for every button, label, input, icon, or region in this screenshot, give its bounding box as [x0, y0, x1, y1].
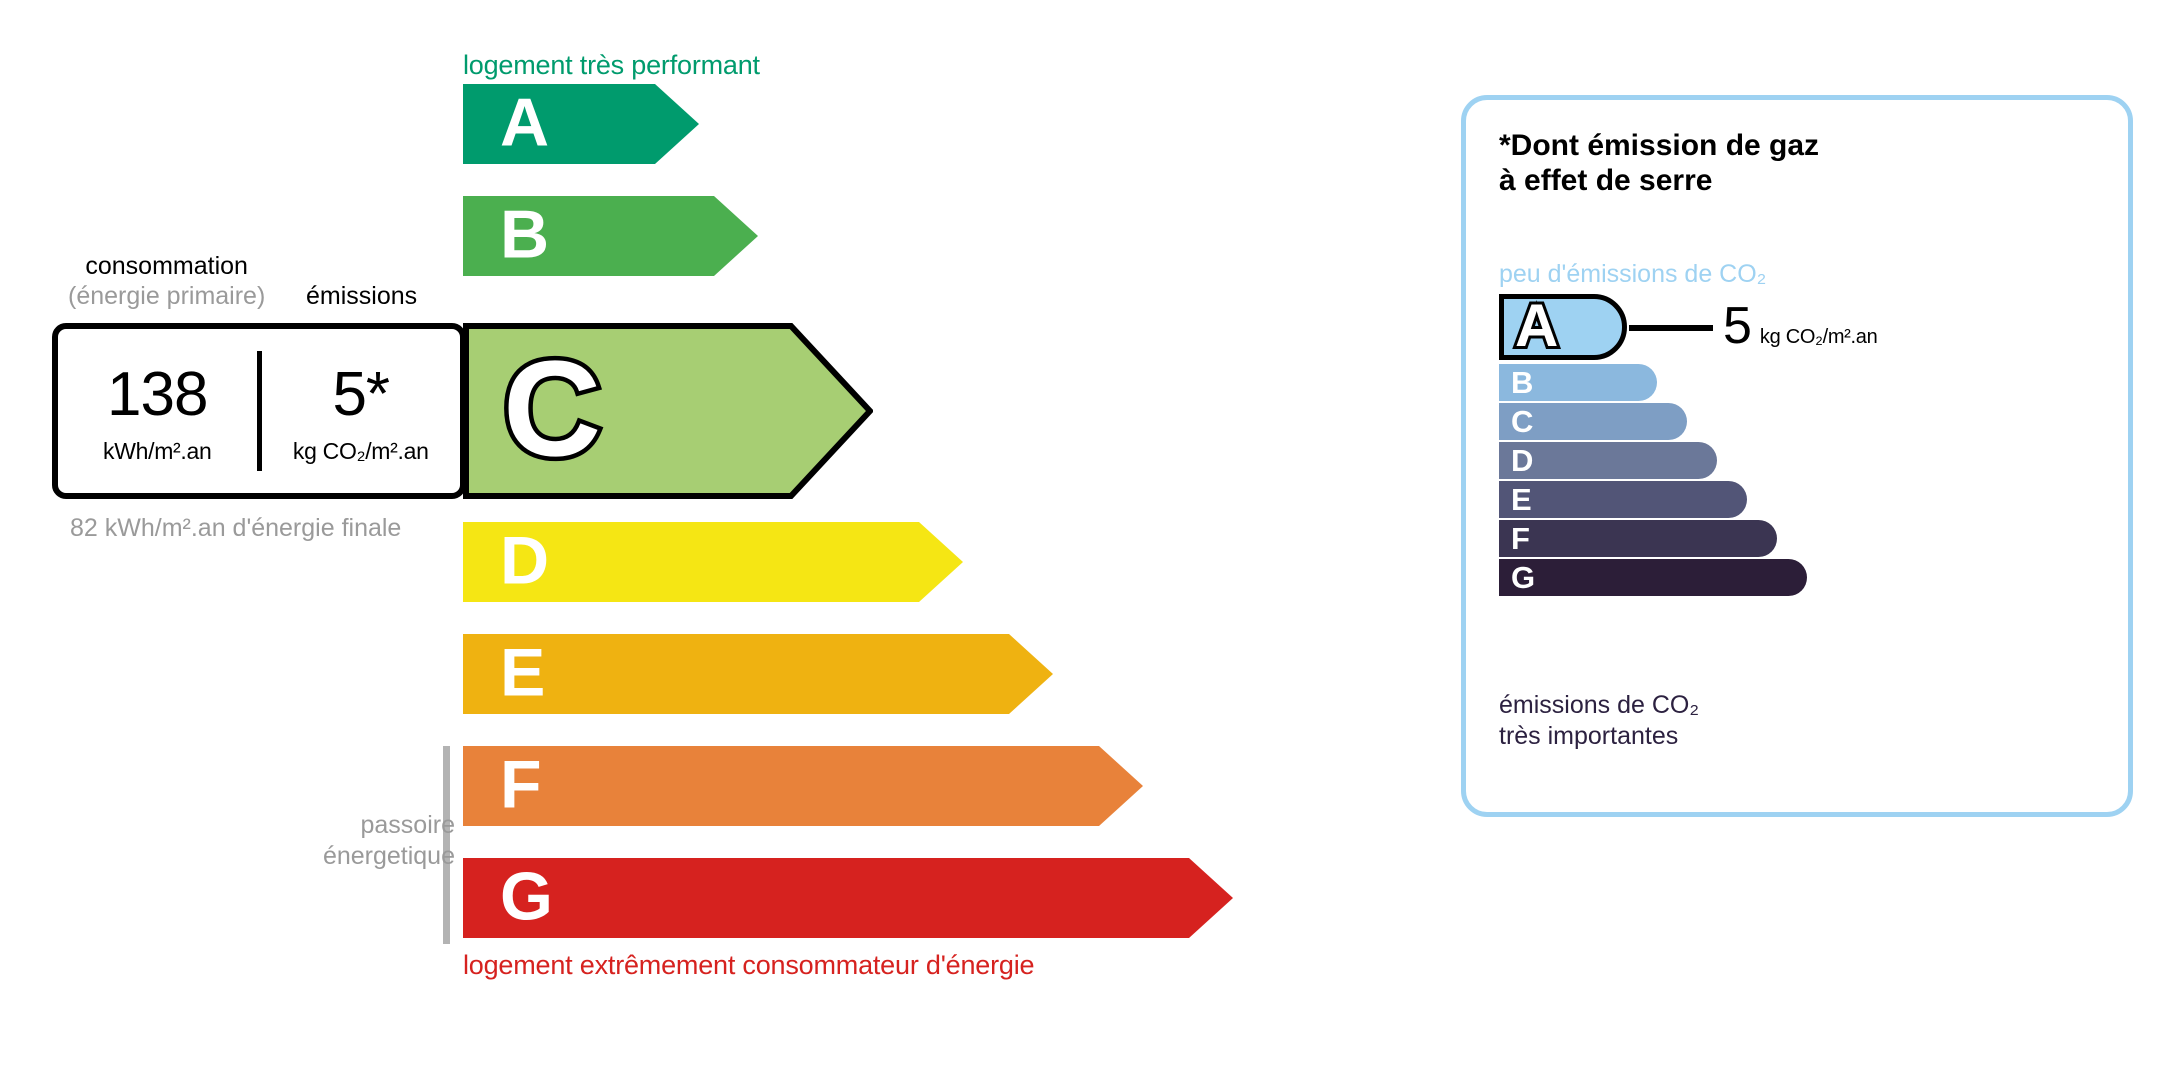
energy-grade-row-e: E	[463, 634, 1053, 714]
consumption-unit: kWh/m².an	[103, 438, 211, 465]
emissions-label: émissions	[306, 282, 417, 312]
energy-grade-row-f: F	[463, 746, 1143, 826]
co2-grade-letter-a: A	[1515, 296, 1558, 356]
energy-grade-letter-g: G	[500, 863, 553, 931]
co2-grade-row-f: F	[1499, 520, 2099, 557]
energy-grade-row-a: A	[463, 84, 699, 164]
energy-grade-row-d: D	[463, 522, 963, 602]
energy-grade-row-c: C	[463, 323, 873, 499]
co2-grade-bar-g	[1499, 559, 1807, 596]
co2-grade-letter-g: G	[1511, 561, 1535, 592]
consumption-cell: 138 kWh/m².an	[58, 329, 257, 493]
emissions-value: 5*	[332, 364, 389, 426]
emissions-cell: 5* kg CO₂/m².an	[262, 329, 461, 493]
energy-grade-letter-f: F	[500, 751, 542, 819]
energy-grade-row-b: B	[463, 196, 758, 276]
co2-value-unit: kg CO₂/m².an	[1760, 326, 1878, 349]
co2-grade-bar-e	[1499, 481, 1747, 518]
energy-grade-letter-c: C	[503, 340, 601, 476]
co2-value-group: 5kg CO₂/m².an	[1723, 300, 1877, 352]
energy-grade-row-g: G	[463, 858, 1233, 938]
energy-grade-letter-e: E	[500, 639, 545, 707]
co2-top-caption: peu d'émissions de CO₂	[1499, 260, 1766, 289]
measurement-box: 138 kWh/m².an 5* kg CO₂/m².an	[52, 323, 466, 499]
co2-panel: *Dont émission de gaz à effet de serre p…	[1461, 95, 2133, 817]
passoire-label: passoire énergetique	[280, 810, 455, 873]
energy-grade-letter-a: A	[500, 89, 549, 157]
energy-grade-arrow-e	[463, 634, 1053, 714]
co2-grade-row-e: E	[1499, 481, 2099, 518]
co2-panel-title: *Dont émission de gaz à effet de serre	[1499, 128, 1819, 199]
co2-grade-letter-b: B	[1511, 366, 1533, 397]
energy-grade-letter-d: D	[500, 527, 549, 595]
co2-grade-letter-d: D	[1511, 444, 1533, 475]
consumption-label-sub: (énergie primaire)	[68, 282, 265, 312]
energy-scale-bottom-caption: logement extrêmement consommateur d'éner…	[463, 950, 1034, 981]
co2-grade-letter-e: E	[1511, 483, 1532, 514]
energy-label-panel: logement très performant ABCDEFG 138 kWh…	[0, 0, 1400, 1079]
co2-bottom-caption: émissions de CO₂ très importantes	[1499, 690, 1699, 751]
co2-grade-row-a: A5kg CO₂/m².an	[1499, 294, 2099, 360]
consumption-value: 138	[107, 364, 207, 426]
co2-value: 5	[1723, 300, 1751, 352]
co2-grade-rows: A5kg CO₂/m².anBCDEFG	[1499, 294, 2099, 598]
co2-grade-row-b: B	[1499, 364, 2099, 401]
co2-grade-row-c: C	[1499, 403, 2099, 440]
co2-leader-line	[1629, 325, 1713, 331]
co2-grade-letter-c: C	[1511, 405, 1533, 436]
energy-grade-letter-b: B	[500, 201, 549, 269]
energy-grade-arrow-f	[463, 746, 1143, 826]
energy-grade-arrow-g	[463, 858, 1233, 938]
co2-grade-row-d: D	[1499, 442, 2099, 479]
consumption-label-main: consommation	[85, 252, 248, 280]
co2-grade-bar-f	[1499, 520, 1777, 557]
co2-grade-row-g: G	[1499, 559, 2099, 596]
consumption-label: consommation (énergie primaire)	[68, 252, 265, 311]
co2-grade-letter-f: F	[1511, 522, 1530, 553]
emissions-unit: kg CO₂/m².an	[293, 438, 429, 465]
final-energy-note: 82 kWh/m².an d'énergie finale	[70, 512, 401, 545]
energy-grade-arrow-a	[463, 84, 699, 164]
